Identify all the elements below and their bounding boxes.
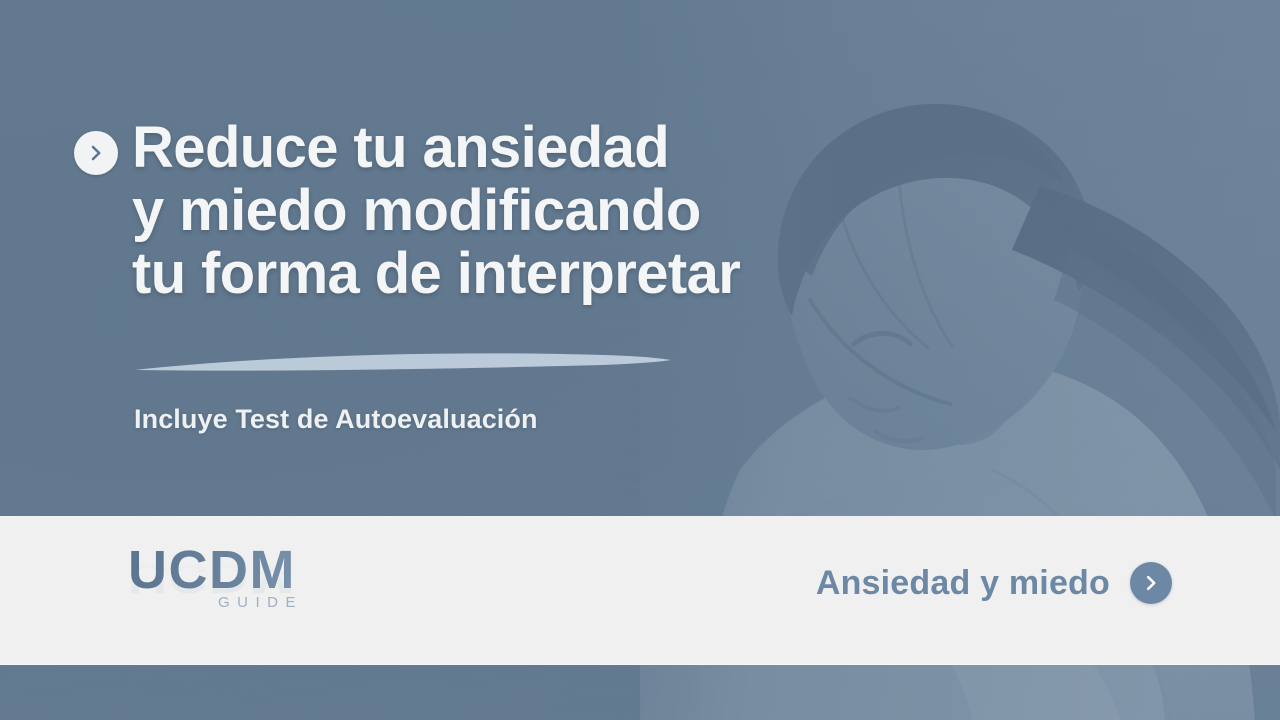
logo-wordmark: UCDM [128, 542, 388, 598]
logo-tagline: GUIDE [218, 594, 303, 611]
headline-line-2: y miedo modificando [132, 179, 740, 242]
headline-block: Reduce tu ansiedad y miedo modificando t… [74, 116, 834, 305]
chevron-right-icon[interactable] [1130, 562, 1172, 604]
headline-line-1: Reduce tu ansiedad [132, 116, 740, 179]
chevron-right-icon [74, 131, 118, 175]
headline-row: Reduce tu ansiedad y miedo modificando t… [74, 116, 834, 305]
cta-label: Ansiedad y miedo [816, 564, 1110, 603]
headline-line-3: tu forma de interpretar [132, 242, 740, 305]
slide-root: Reduce tu ansiedad y miedo modificando t… [0, 0, 1280, 720]
swoosh-divider [133, 348, 673, 376]
page-title: Reduce tu ansiedad y miedo modificando t… [132, 116, 740, 305]
sub-headline: Incluye Test de Autoevaluación [134, 404, 538, 435]
brand-logo[interactable]: UCDM UCDM GUIDE [128, 542, 388, 598]
footer-cta[interactable]: Ansiedad y miedo [816, 562, 1172, 604]
